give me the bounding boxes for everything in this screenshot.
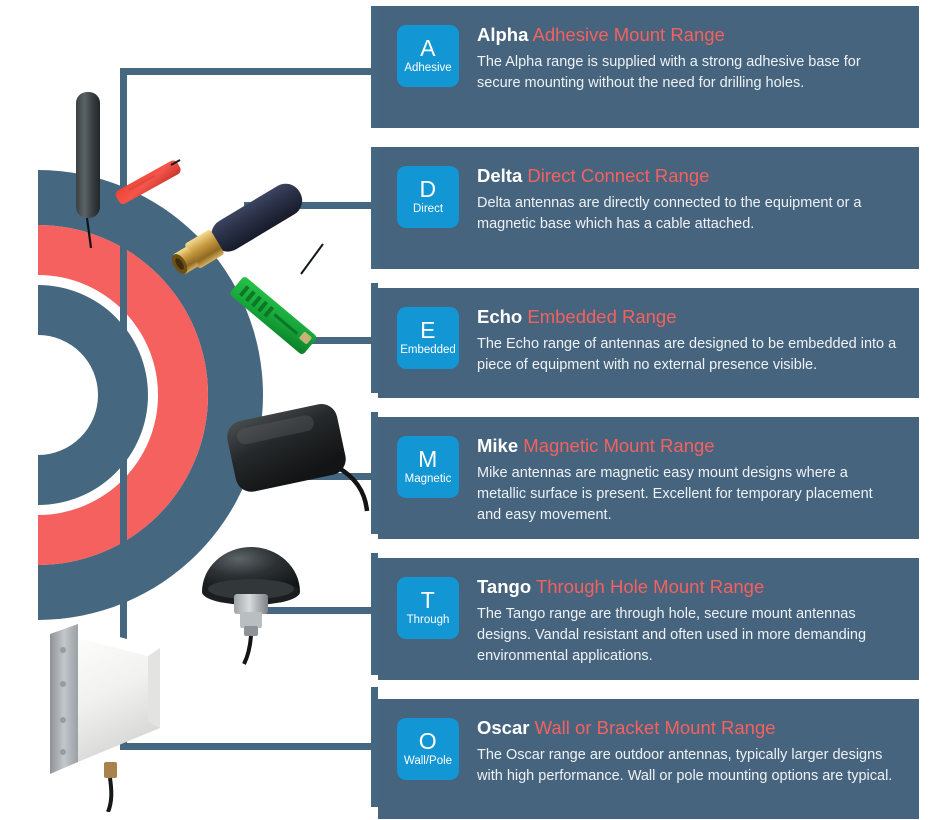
badge-letter: T [421, 588, 436, 612]
range-badge-alpha: A Adhesive [397, 25, 459, 87]
range-panel-oscar[interactable]: O Wall/Pole Oscar Wall or Bracket Mount … [378, 699, 919, 819]
range-panel-list: A Adhesive Alpha Adhesive Mount Range Th… [378, 6, 919, 819]
range-panel-mike[interactable]: M Magnetic Mike Magnetic Mount Range Mik… [378, 417, 919, 539]
panel-title: Tango Through Hole Mount Range [477, 576, 899, 598]
range-badge-echo: E Embedded [397, 307, 459, 369]
panel-description: The Alpha range is supplied with a stron… [477, 52, 899, 94]
panel-body: Echo Embedded Range The Echo range of an… [477, 305, 899, 376]
panel-description: The Tango range are through hole, secure… [477, 604, 899, 667]
range-badge-tango: T Through [397, 577, 459, 639]
range-badge-mike: M Magnetic [397, 436, 459, 498]
embedded-pcb-antenna [205, 238, 335, 373]
badge-label: Wall/Pole [404, 754, 452, 769]
panel-title-name: Echo [477, 306, 522, 327]
panel-body: Delta Direct Connect Range Delta antenna… [477, 164, 899, 235]
panel-description: The Oscar range are outdoor antennas, ty… [477, 745, 899, 787]
connector-stub-3 [371, 283, 378, 393]
connector-stub-5 [371, 553, 378, 675]
panel-title-name: Alpha [477, 24, 528, 45]
range-badge-oscar: O Wall/Pole [397, 718, 459, 780]
panel-title-rest: Magnetic Mount Range [523, 435, 714, 456]
panel-title-rest: Through Hole Mount Range [536, 576, 764, 597]
badge-label: Magnetic [405, 472, 452, 487]
panel-title-rest: Embedded Range [527, 306, 676, 327]
panel-title-name: Mike [477, 435, 518, 456]
badge-letter: A [420, 36, 436, 60]
panel-body: Mike Magnetic Mount Range Mike antennas … [477, 434, 899, 526]
badge-letter: M [418, 447, 438, 471]
range-panel-echo[interactable]: E Embedded Echo Embedded Range The Echo … [378, 288, 919, 398]
infographic-root: A Adhesive Alpha Adhesive Mount Range Th… [0, 0, 951, 820]
range-panel-delta[interactable]: D Direct Delta Direct Connect Range Delt… [378, 147, 919, 269]
badge-letter: O [419, 729, 437, 753]
panel-title: Alpha Adhesive Mount Range [477, 24, 899, 46]
connector-branch-1 [120, 68, 378, 75]
panel-title-name: Oscar [477, 717, 529, 738]
panel-body: Oscar Wall or Bracket Mount Range The Os… [477, 716, 899, 787]
badge-label: Through [407, 613, 450, 628]
panel-description: The Echo range of antennas are designed … [477, 334, 899, 376]
panel-title-rest: Adhesive Mount Range [533, 24, 725, 45]
panel-title-rest: Direct Connect Range [527, 165, 709, 186]
panel-title: Delta Direct Connect Range [477, 165, 899, 187]
wall-bracket-panel-antenna [38, 612, 223, 812]
badge-label: Direct [413, 202, 443, 217]
badge-letter: D [419, 177, 436, 201]
magnetic-mount-antenna [215, 395, 375, 520]
range-panel-alpha[interactable]: A Adhesive Alpha Adhesive Mount Range Th… [378, 6, 919, 128]
panel-description: Mike antennas are magnetic easy mount de… [477, 463, 899, 526]
badge-label: Adhesive [404, 61, 451, 76]
panel-description: Delta antennas are directly connected to… [477, 193, 899, 235]
panel-title: Oscar Wall or Bracket Mount Range [477, 717, 899, 739]
badge-label: Embedded [400, 343, 456, 358]
badge-letter: E [420, 318, 436, 342]
panel-body: Alpha Adhesive Mount Range The Alpha ran… [477, 23, 899, 94]
panel-title-rest: Wall or Bracket Mount Range [535, 717, 776, 738]
connector-stub-2 [371, 147, 378, 269]
panel-title: Mike Magnetic Mount Range [477, 435, 899, 457]
range-panel-tango[interactable]: T Through Tango Through Hole Mount Range… [378, 558, 919, 680]
panel-title-name: Delta [477, 165, 522, 186]
panel-title-name: Tango [477, 576, 531, 597]
panel-title: Echo Embedded Range [477, 306, 899, 328]
panel-body: Tango Through Hole Mount Range The Tango… [477, 575, 899, 667]
connector-stub-6 [371, 687, 378, 807]
connector-stub-1 [371, 6, 378, 128]
range-badge-delta: D Direct [397, 166, 459, 228]
